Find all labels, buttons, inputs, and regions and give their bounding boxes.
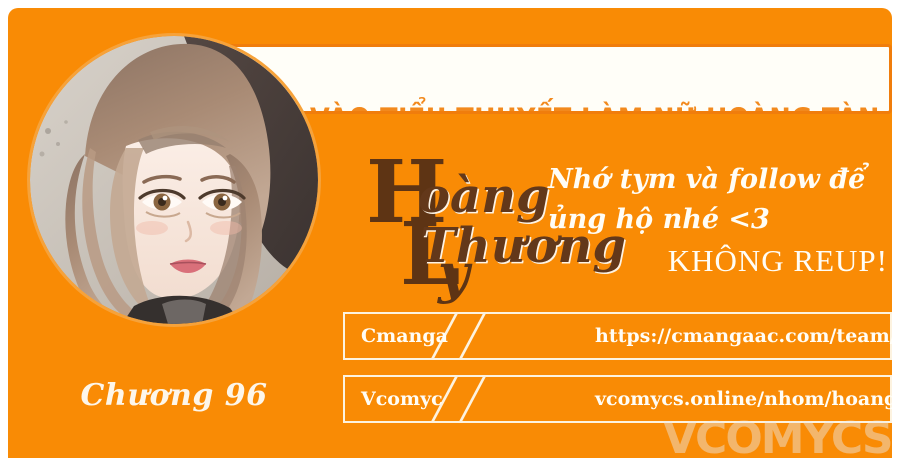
watermark: VCOMYCS.com	[663, 413, 892, 458]
slash-divider-2	[458, 375, 487, 423]
search-title: ẾN VÀO TIỂU THUYẾT LÀM NỮ HOÀNG TÀN ĐỘC	[261, 97, 842, 114]
watermark-main: VCOMYCS	[663, 413, 892, 458]
credit-site-name: Cmanga	[361, 314, 448, 358]
avatar	[30, 36, 318, 324]
promo-line-2: ủng hộ nhé <3	[548, 200, 888, 240]
slash-divider-2	[458, 312, 487, 360]
logo-letter-y: y	[438, 246, 469, 300]
orange-card: ẾN VÀO TIỂU THUYẾT LÀM NỮ HOÀNG TÀN ĐỘC	[8, 8, 892, 458]
promo-line-3: KHÔNG REUP!	[548, 240, 888, 282]
credit-site-name: Vcomyc	[361, 377, 443, 421]
brand-logo: H oàng L Thương y	[358, 150, 543, 295]
promo-text: Nhớ tym và follow để ủng hộ nhé <3 KHÔNG…	[548, 160, 888, 282]
credit-page: ẾN VÀO TIỂU THUYẾT LÀM NỮ HOÀNG TÀN ĐỘC	[0, 0, 900, 465]
credit-site-url[interactable]: https://cmangaac.com/team/38222	[595, 314, 892, 358]
credit-row-cmanga[interactable]: Cmanga https://cmangaac.com/team/38222	[343, 312, 892, 360]
promo-line-1: Nhớ tym và follow để	[548, 160, 888, 200]
chapter-label: Chương 96	[34, 378, 314, 413]
